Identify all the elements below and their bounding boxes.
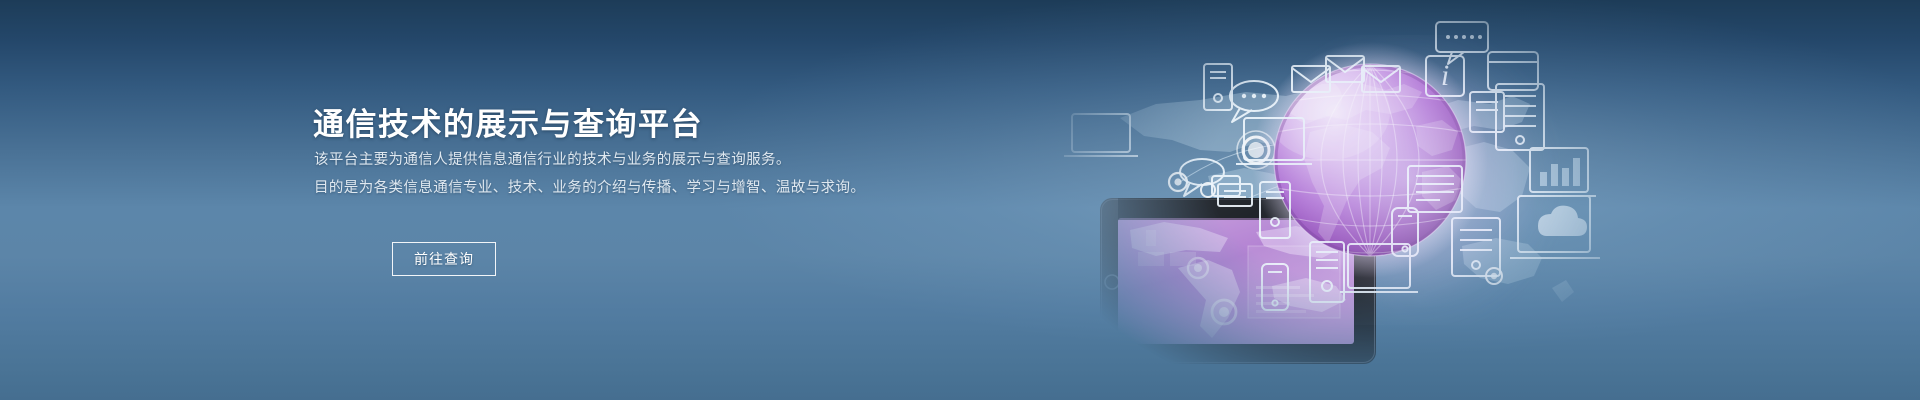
monitor-chart-icon xyxy=(1522,148,1596,196)
go-to-query-button[interactable]: 前往查询 xyxy=(392,242,496,276)
hero-content: 通信技术的展示与查询平台 该平台主要为通信人提供信息通信行业的技术与业务的展示与… xyxy=(313,0,1073,400)
hero-paragraph-line-2: 目的是为各类信息通信专业、技术、业务的介绍与传播、学习与增智、温故与求询。 xyxy=(314,176,865,197)
hero-banner: i xyxy=(0,0,1920,400)
hero-artwork: i xyxy=(1060,0,1620,400)
svg-text:i: i xyxy=(1441,59,1449,92)
hero-paragraph-line-1: 该平台主要为通信人提供信息通信行业的技术与业务的展示与查询服务。 xyxy=(314,148,791,169)
page-title: 通信技术的展示与查询平台 xyxy=(313,99,703,144)
speech-bubble-dots-icon xyxy=(1436,22,1488,64)
